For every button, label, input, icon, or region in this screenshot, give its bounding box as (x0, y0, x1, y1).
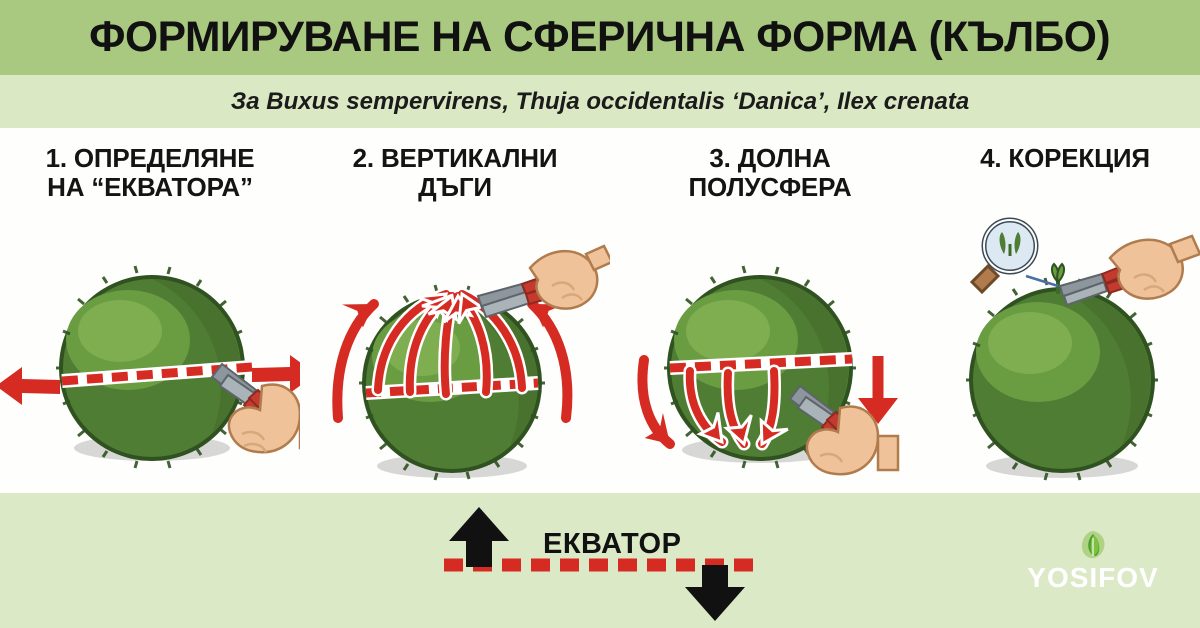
steps-area: 1. ОПРЕДЕЛЯНЕ НА “ЕКВАТОРА” (0, 128, 1200, 493)
up-arrow-icon (449, 507, 509, 567)
leaf-icon (1076, 528, 1110, 562)
magnifier-icon (972, 220, 1058, 292)
step-panel-3: 3. ДОЛНА ПОЛУСФЕРА (610, 128, 930, 493)
step-panel-4: 4. КОРЕКЦИЯ (930, 128, 1200, 493)
brand-logo[interactable]: YOSIFOV (1018, 528, 1168, 608)
hand-with-snips-4 (1060, 236, 1200, 305)
equator-label: ЕКВАТОР (543, 528, 681, 561)
header-band: ФОРМИРУВАНЕ НА СФЕРИЧНА ФОРМА (КЪЛБО) (0, 0, 1200, 75)
subtitle-text: За Buxus sempervirens, Thuja occidentali… (231, 88, 969, 116)
logo-text: YOSIFOV (1018, 564, 1168, 592)
down-arrow-icon (685, 565, 745, 621)
step-panel-1: 1. ОПРЕДЕЛЯНЕ НА “ЕКВАТОРА” (0, 128, 300, 493)
step-2-illustration (300, 128, 610, 493)
page-title: ФОРМИРУВАНЕ НА СФЕРИЧНА ФОРМА (КЪЛБО) (90, 13, 1111, 62)
step-3-illustration (610, 128, 930, 493)
step-panel-2: 2. ВЕРТИКАЛНИ ДЪГИ (300, 128, 610, 493)
infographic-page: ФОРМИРУВАНЕ НА СФЕРИЧНА ФОРМА (КЪЛБО) За… (0, 0, 1200, 628)
shrub-sphere-4 (966, 278, 1158, 480)
step-4-illustration (930, 128, 1200, 493)
subtitle-band: За Buxus sempervirens, Thuja occidentali… (0, 75, 1200, 128)
step-1-illustration (0, 128, 300, 493)
equator-dashed-line-3 (670, 359, 852, 368)
equator-arrow-left (0, 367, 60, 405)
